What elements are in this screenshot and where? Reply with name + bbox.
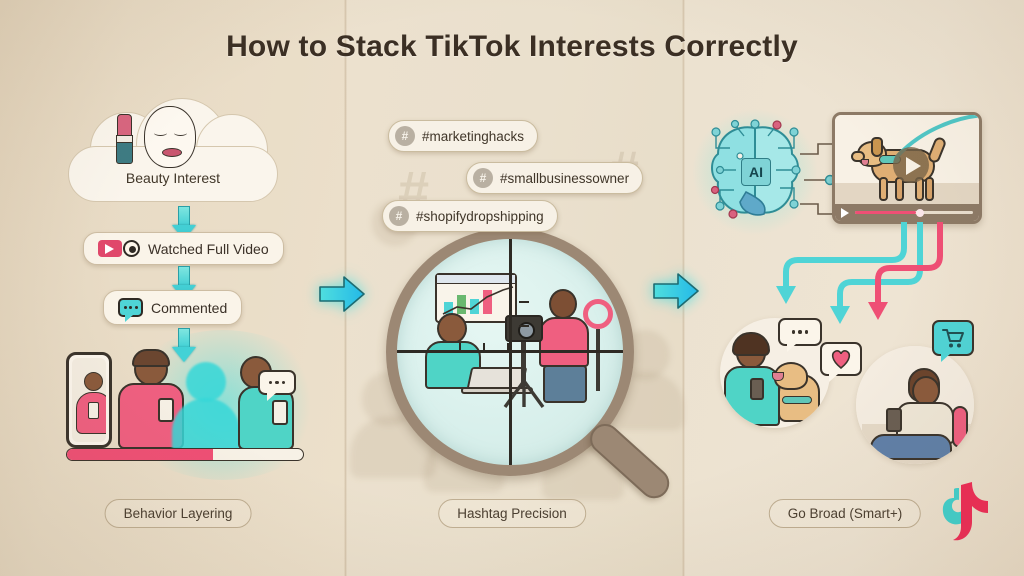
caption-hashtag-precision: Hashtag Precision (438, 499, 586, 528)
comment-bubble (258, 370, 296, 395)
hashtag-marketinghacks[interactable]: # #marketinghacks (388, 120, 538, 152)
video-progress-track[interactable] (855, 211, 973, 214)
page-title: How to Stack TikTok Interests Correctly (0, 30, 1024, 64)
comment-bubble (778, 318, 822, 346)
shopping-cart-bubble (932, 320, 974, 356)
audience-silhouette (186, 362, 226, 402)
play-icon (98, 240, 122, 257)
phone-mockup (66, 352, 112, 448)
step-commented[interactable]: Commented (103, 290, 242, 325)
hash-badge-icon: # (389, 206, 409, 226)
face-icon (144, 106, 196, 168)
beauty-interest-cloud (62, 98, 284, 203)
ai-chip-label: AI (749, 164, 763, 180)
lipstick-icon (117, 114, 132, 136)
cloud-label: Beauty Interest (62, 170, 284, 186)
hash-badge-icon: # (395, 126, 415, 146)
step-label: Commented (151, 300, 227, 316)
connector-arrow-1 (318, 275, 366, 313)
hashtag-shopifydropshipping[interactable]: # #shopifydropshipping (382, 200, 558, 232)
play-icon (841, 208, 849, 218)
tiktok-logo (938, 478, 1000, 546)
hashtag-label: #marketinghacks (422, 129, 524, 144)
infographic-canvas: How to Stack TikTok Interests Correctly … (0, 0, 1024, 576)
comment-bubble-icon (118, 298, 143, 317)
heart-bubble (820, 342, 862, 376)
dog-video-card[interactable] (832, 112, 982, 224)
hash-badge-icon: # (473, 168, 493, 188)
shopper-scene (856, 346, 974, 464)
caption-behavior-layering: Behavior Layering (105, 499, 252, 528)
crosshair-vertical (509, 239, 512, 465)
eye-icon (123, 240, 140, 257)
engagement-progress-bar (66, 448, 304, 461)
connector-arrow-2 (652, 272, 700, 310)
ai-brain-icon: AI (706, 118, 804, 226)
hashtag-smallbusinessowner[interactable]: # #smallbusinessowner (466, 162, 643, 194)
step-label: Watched Full Video (148, 241, 269, 257)
caption-go-broad: Go Broad (Smart+) (769, 499, 921, 528)
step-watched-full-video[interactable]: Watched Full Video (83, 232, 284, 265)
ai-chip: AI (741, 158, 771, 186)
ring-light-icon (583, 299, 613, 329)
hashtag-label: #shopifydropshipping (416, 209, 544, 224)
video-player-bar[interactable] (835, 204, 979, 221)
hashtag-label: #smallbusinessowner (500, 171, 629, 186)
